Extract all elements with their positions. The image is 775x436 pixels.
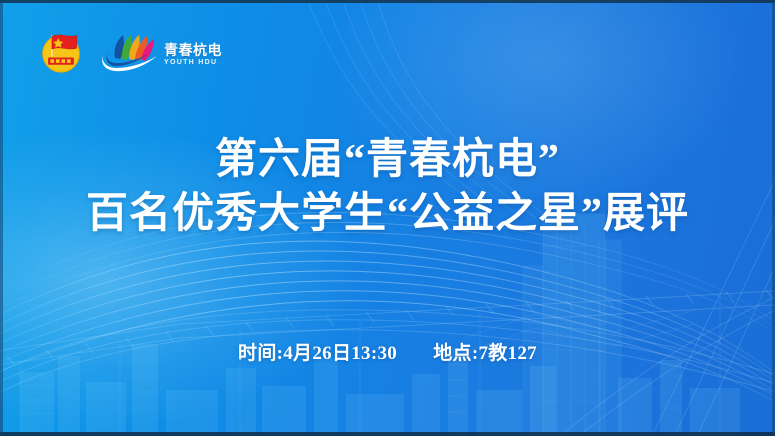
title-line-2: 百名优秀大学生“公益之星”展评: [0, 188, 775, 242]
event-place-value: :7教127: [472, 343, 537, 364]
title-line-1: 第六届“青春杭电”: [0, 134, 775, 188]
event-time-label: 时间: [238, 343, 277, 364]
frame-edge-bottom: [0, 432, 775, 436]
event-time-value: :4月26日13:30: [277, 343, 397, 364]
event-poster: 青春杭电 YOUTH HDU 第六届“青春杭电” 百名优秀大学生“公益之星”展评…: [0, 0, 775, 436]
communist-youth-league-emblem: [38, 28, 84, 74]
youth-hdu-en-text: YOUTH HDU: [164, 59, 222, 66]
youth-hdu-wordmark: 青春杭电 YOUTH HDU: [164, 43, 222, 66]
poster-title: 第六届“青春杭电” 百名优秀大学生“公益之星”展评: [0, 134, 775, 242]
youth-hdu-logo: 青春杭电 YOUTH HDU: [100, 30, 222, 72]
event-place-label: 地点: [433, 343, 472, 364]
youth-hdu-cn-text: 青春杭电: [164, 43, 222, 57]
frame-edge-top: [0, 0, 775, 3]
event-meta: 时间:4月26日13:30 地点:7教127: [0, 338, 775, 365]
youth-hdu-mark-svg: [100, 30, 160, 72]
logo-row: 青春杭电 YOUTH HDU: [38, 28, 222, 74]
cyl-emblem-svg: [38, 28, 84, 74]
